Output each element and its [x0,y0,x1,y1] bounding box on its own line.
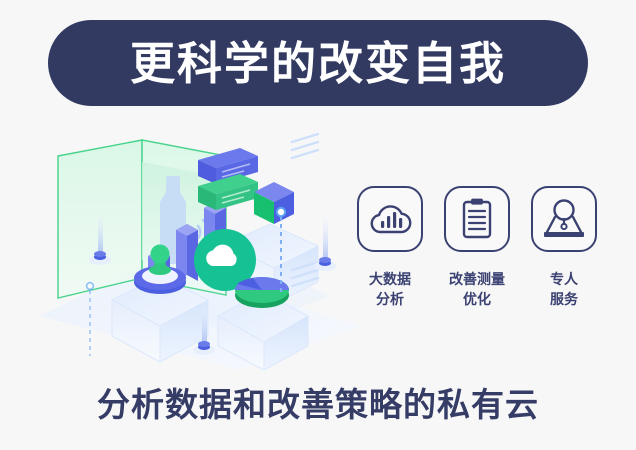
service-agent-icon [541,197,587,241]
headline-banner: 更科学的改变自我 [48,20,588,106]
feature-item-service[interactable]: 专人 服务 [526,186,602,310]
isometric-cube [254,182,294,224]
speed-lines-top [292,134,318,158]
feature-item-measurement[interactable]: 改善测量 优化 [439,186,515,310]
feature-icon-frame-big-data [357,186,423,252]
feature-label-big-data: 大数据 分析 [369,270,411,310]
feature-icon-frame-measurement [444,186,510,252]
feature-icon-frame-service [531,186,597,252]
feature-label-measurement: 改善测量 优化 [449,270,505,310]
feature-list: 大数据 分析 改善测量 优化 [352,186,602,331]
poster-canvas: 更科学的改变自我 [0,0,636,450]
footer-tagline: 分析数据和改善策略的私有云 [0,385,636,425]
cloud-bar-chart-icon [368,199,412,239]
headline-text: 更科学的改变自我 [130,41,506,86]
feature-label-service: 专人 服务 [550,270,578,310]
hero-illustration [30,120,360,370]
feature-item-big-data[interactable]: 大数据 分析 [352,186,428,310]
clipboard-icon [457,197,497,241]
footer-tagline-text: 分析数据和改善策略的私有云 [97,385,539,424]
